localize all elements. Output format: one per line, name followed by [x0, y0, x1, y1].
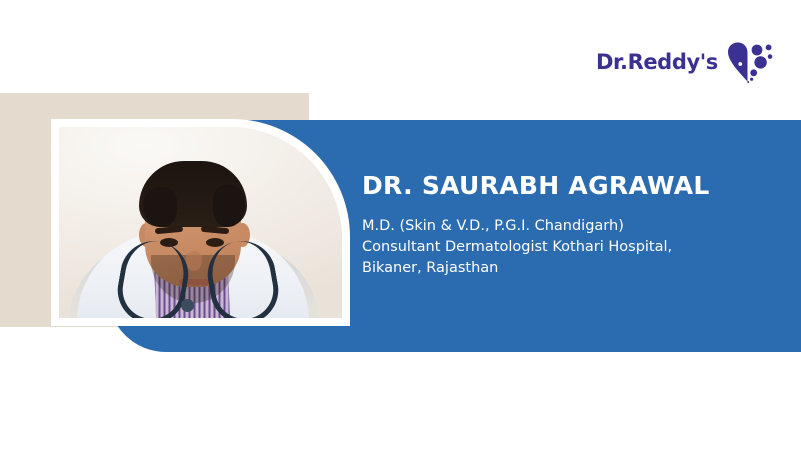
- credential-line: M.D. (Skin & V.D., P.G.I. Chandigarh): [362, 216, 782, 237]
- brand-wordmark: Dr.Reddy's: [596, 52, 718, 73]
- stethoscope-chestpiece: [181, 299, 194, 312]
- speaker-info-block: DR. SAURABH AGRAWAL M.D. (Skin & V.D., P…: [362, 172, 782, 279]
- brand-logo: Dr.Reddy's: [596, 41, 773, 83]
- speaker-photo-card: [51, 119, 350, 326]
- speaker-credentials: M.D. (Skin & V.D., P.G.I. Chandigarh) Co…: [362, 216, 782, 280]
- portrait-illustration: [59, 127, 342, 318]
- credential-line: Bikaner, Rajasthan: [362, 258, 782, 279]
- speaker-name: DR. SAURABH AGRAWAL: [362, 172, 782, 200]
- hair: [139, 161, 247, 227]
- speaker-photo: [59, 127, 342, 318]
- heart-dots-logo-icon: [727, 41, 773, 83]
- eye-right: [206, 238, 224, 247]
- credential-line: Consultant Dermatologist Kothari Hospita…: [362, 237, 782, 258]
- nose: [186, 251, 202, 271]
- speaker-intro-slide: Dr.Reddy's: [0, 0, 801, 450]
